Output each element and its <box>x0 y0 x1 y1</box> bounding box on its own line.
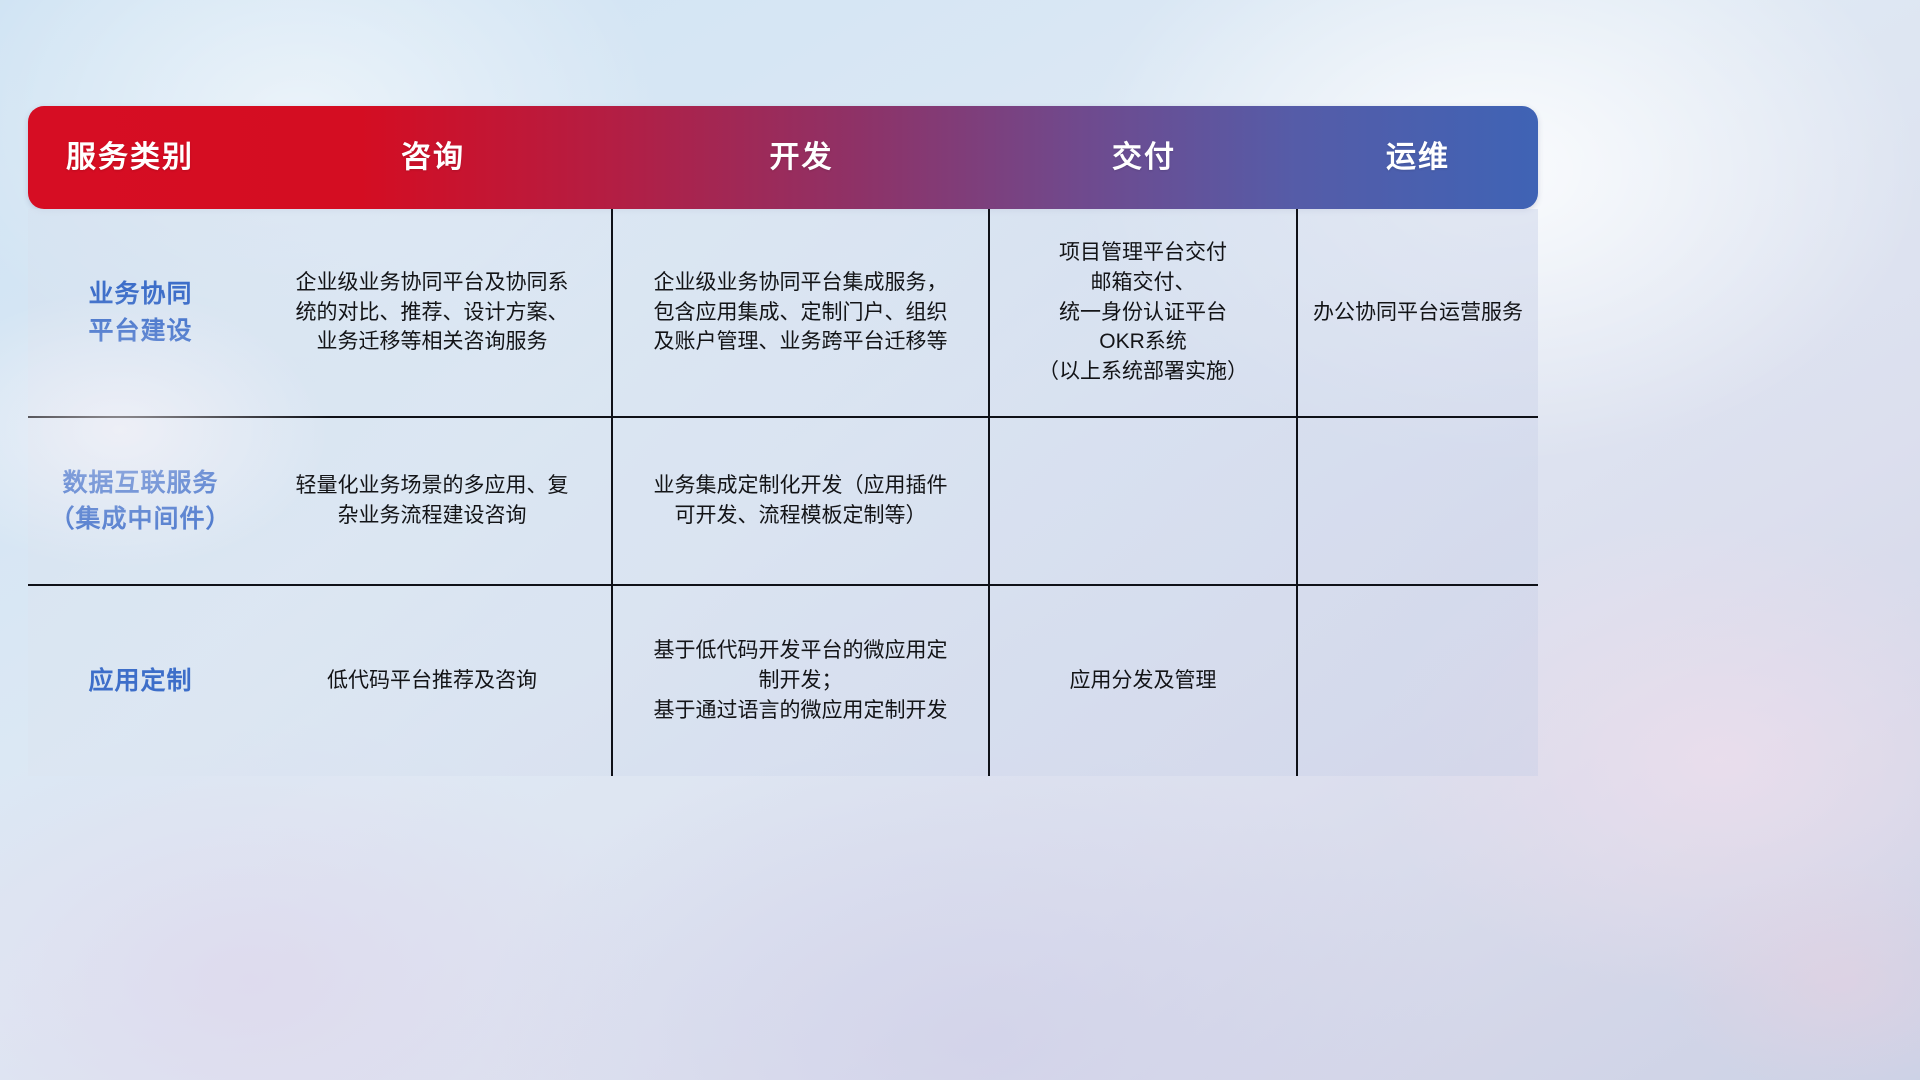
column-header-operations: 运维 <box>1298 143 1538 173</box>
cell-consulting: 企业级业务协同平台及协同系 统的对比、推荐、设计方案、 业务迁移等相关咨询服务 <box>253 209 613 416</box>
cell-delivery: 项目管理平台交付 邮箱交付、 统一身份认证平台 OKR系统 （以上系统部署实施） <box>990 209 1298 416</box>
row-label-cell: 业务协同 平台建设 <box>28 209 253 416</box>
cell-delivery: 应用分发及管理 <box>990 586 1298 776</box>
column-header-consulting: 咨询 <box>253 143 613 173</box>
column-header-development: 开发 <box>613 143 990 173</box>
row-label-text: 数据互联服务 （集成中间件） <box>49 465 231 538</box>
cell-consulting: 轻量化业务场景的多应用、复 杂业务流程建设咨询 <box>253 418 613 584</box>
slide-canvas: 服务类别 咨询 开发 交付 运维 业务协同 平台建设 企业级业务协同平台及协同系… <box>0 0 1920 1080</box>
cell-operations <box>1298 418 1538 584</box>
cell-consulting: 低代码平台推荐及咨询 <box>253 586 613 776</box>
cell-development: 企业级业务协同平台集成服务， 包含应用集成、定制门户、组织 及账户管理、业务跨平… <box>613 209 990 416</box>
table-row: 应用定制 低代码平台推荐及咨询 基于低代码开发平台的微应用定 制开发； 基于通过… <box>28 586 1538 776</box>
service-matrix-table: 服务类别 咨询 开发 交付 运维 业务协同 平台建设 企业级业务协同平台及协同系… <box>28 106 1538 776</box>
row-label-text: 业务协同 平台建设 <box>88 276 192 349</box>
table-header-row: 服务类别 咨询 开发 交付 运维 <box>28 106 1538 209</box>
table-body: 业务协同 平台建设 企业级业务协同平台及协同系 统的对比、推荐、设计方案、 业务… <box>28 209 1538 776</box>
column-header-delivery: 交付 <box>990 143 1298 173</box>
row-label-cell: 数据互联服务 （集成中间件） <box>28 418 253 584</box>
cell-operations: 办公协同平台运营服务 <box>1298 209 1538 416</box>
cell-development: 基于低代码开发平台的微应用定 制开发； 基于通过语言的微应用定制开发 <box>613 586 990 776</box>
cell-delivery <box>990 418 1298 584</box>
cell-development: 业务集成定制化开发（应用插件 可开发、流程模板定制等） <box>613 418 990 584</box>
table-row: 业务协同 平台建设 企业级业务协同平台及协同系 统的对比、推荐、设计方案、 业务… <box>28 209 1538 418</box>
row-label-cell: 应用定制 <box>28 586 253 776</box>
column-header-service-category: 服务类别 <box>28 143 253 173</box>
table-row: 数据互联服务 （集成中间件） 轻量化业务场景的多应用、复 杂业务流程建设咨询 业… <box>28 418 1538 586</box>
cell-operations <box>1298 586 1538 776</box>
row-label-text: 应用定制 <box>88 663 192 699</box>
